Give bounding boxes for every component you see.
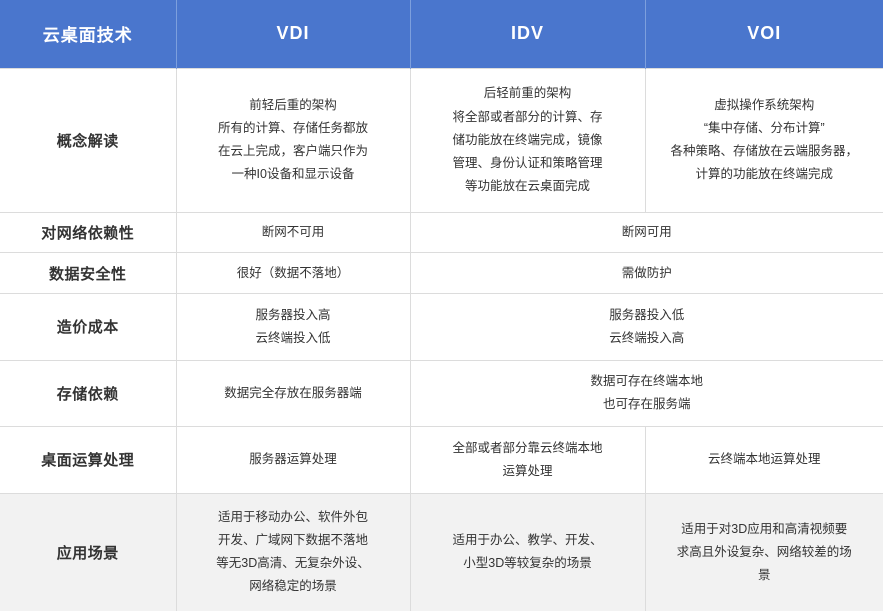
row-data-cell: 断网可用	[410, 212, 883, 253]
cell-text: 断网不可用	[187, 221, 400, 244]
row-data-cell: 服务器投入高 云终端投入低	[176, 294, 410, 361]
header-row: 云桌面技术 VDI IDV VOI	[0, 0, 883, 68]
table-header: 云桌面技术 VDI IDV VOI	[0, 0, 883, 68]
cell-text: 适用于对3D应用和高清视频要 求高且外设复杂、网络较差的场 景	[656, 518, 874, 587]
cell-text: 云终端本地运算处理	[656, 448, 874, 471]
row-data-cell: 适用于办公、教学、开发、 小型3D等较复杂的场景	[410, 493, 645, 611]
row-label-cell: 桌面运算处理	[0, 427, 176, 494]
row-data-cell: 后轻前重的架构 将全部或者部分的计算、存 储功能放在终端完成，镜像 管理、身份认…	[410, 68, 645, 212]
row-label-cell: 对网络依赖性	[0, 212, 176, 253]
cell-text: 服务器运算处理	[187, 448, 400, 471]
cell-text: 数据可存在终端本地 也可存在服务端	[421, 370, 874, 416]
cell-text: 全部或者部分靠云终端本地 运算处理	[421, 437, 635, 483]
table-row: 应用场景适用于移动办公、软件外包 开发、广域网下数据不落地 等无3D高清、无复杂…	[0, 493, 883, 611]
row-data-cell: 需做防护	[410, 253, 883, 294]
cell-text: 适用于办公、教学、开发、 小型3D等较复杂的场景	[421, 529, 635, 575]
cell-text: 服务器投入高 云终端投入低	[187, 304, 400, 350]
row-data-cell: 很好（数据不落地）	[176, 253, 410, 294]
cell-text: 数据完全存放在服务器端	[187, 382, 400, 405]
row-label-cell: 造价成本	[0, 294, 176, 361]
table-row: 概念解读前轻后重的架构 所有的计算、存储任务都放 在云上完成，客户端只作为 一种…	[0, 68, 883, 212]
row-label-cell: 应用场景	[0, 493, 176, 611]
row-data-cell: 虚拟操作系统架构 “集中存储、分布计算” 各种策略、存储放在云端服务器， 计算的…	[645, 68, 883, 212]
cell-text: 需做防护	[421, 262, 874, 285]
row-data-cell: 前轻后重的架构 所有的计算、存储任务都放 在云上完成，客户端只作为 一种I0设备…	[176, 68, 410, 212]
row-data-cell: 适用于对3D应用和高清视频要 求高且外设复杂、网络较差的场 景	[645, 493, 883, 611]
table-row: 桌面运算处理服务器运算处理全部或者部分靠云终端本地 运算处理云终端本地运算处理	[0, 427, 883, 494]
header-cell-idv: IDV	[410, 0, 645, 68]
header-cell-category: 云桌面技术	[0, 0, 176, 68]
table-row: 造价成本服务器投入高 云终端投入低服务器投入低 云终端投入高	[0, 294, 883, 361]
row-data-cell: 服务器投入低 云终端投入高	[410, 294, 883, 361]
table-row: 存储依赖数据完全存放在服务器端数据可存在终端本地 也可存在服务端	[0, 360, 883, 427]
row-data-cell: 服务器运算处理	[176, 427, 410, 494]
cell-text: 服务器投入低 云终端投入高	[421, 304, 874, 350]
row-data-cell: 数据可存在终端本地 也可存在服务端	[410, 360, 883, 427]
table-row: 数据安全性很好（数据不落地）需做防护	[0, 253, 883, 294]
cell-text: 虚拟操作系统架构 “集中存储、分布计算” 各种策略、存储放在云端服务器， 计算的…	[656, 94, 874, 187]
row-data-cell: 云终端本地运算处理	[645, 427, 883, 494]
table-body: 概念解读前轻后重的架构 所有的计算、存储任务都放 在云上完成，客户端只作为 一种…	[0, 68, 883, 611]
row-data-cell: 断网不可用	[176, 212, 410, 253]
cell-text: 很好（数据不落地）	[187, 262, 400, 285]
cloud-desktop-comparison-table: 云桌面技术 VDI IDV VOI 概念解读前轻后重的架构 所有的计算、存储任务…	[0, 0, 883, 611]
row-data-cell: 全部或者部分靠云终端本地 运算处理	[410, 427, 645, 494]
row-label-cell: 存储依赖	[0, 360, 176, 427]
table-row: 对网络依赖性断网不可用断网可用	[0, 212, 883, 253]
cell-text: 后轻前重的架构 将全部或者部分的计算、存 储功能放在终端完成，镜像 管理、身份认…	[421, 82, 635, 198]
header-cell-voi: VOI	[645, 0, 883, 68]
row-data-cell: 适用于移动办公、软件外包 开发、广域网下数据不落地 等无3D高清、无复杂外设、 …	[176, 493, 410, 611]
row-label-cell: 数据安全性	[0, 253, 176, 294]
cell-text: 适用于移动办公、软件外包 开发、广域网下数据不落地 等无3D高清、无复杂外设、 …	[187, 506, 400, 599]
cell-text: 断网可用	[421, 221, 874, 244]
row-label-cell: 概念解读	[0, 68, 176, 212]
header-cell-vdi: VDI	[176, 0, 410, 68]
row-data-cell: 数据完全存放在服务器端	[176, 360, 410, 427]
cell-text: 前轻后重的架构 所有的计算、存储任务都放 在云上完成，客户端只作为 一种I0设备…	[187, 94, 400, 187]
